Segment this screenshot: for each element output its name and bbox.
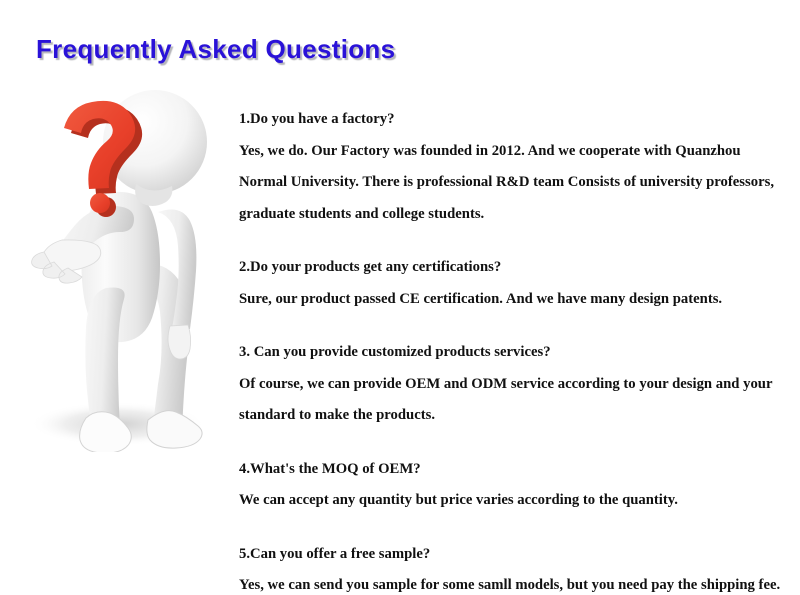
- faq-question: 3. Can you provide customized products s…: [239, 337, 785, 369]
- faq-answer: Of course, we can provide OEM and ODM se…: [239, 369, 785, 432]
- faq-question: 4.What's the MOQ of OEM?: [239, 454, 785, 486]
- faq-question: 2.Do your products get any certification…: [239, 252, 785, 284]
- faq-question: 1.Do you have a factory?: [239, 104, 785, 136]
- faq-item: 5.Can you offer a free sample? Yes, we c…: [239, 539, 785, 595]
- 3d-mannequin-with-question-mark-illustration: [18, 72, 228, 452]
- page-title: Frequently Asked Questions: [36, 34, 395, 65]
- faq-answer: Yes, we do. Our Factory was founded in 2…: [239, 136, 785, 231]
- figure-right-hand: [168, 325, 191, 359]
- question-mark-dot: [90, 193, 110, 213]
- faq-answer: Sure, our product passed CE certificatio…: [239, 284, 785, 316]
- figure-left-leg: [85, 287, 124, 430]
- faq-answer: Yes, we can send you sample for some sam…: [239, 570, 785, 595]
- faq-question: 5.Can you offer a free sample?: [239, 539, 785, 571]
- faq-answer: We can accept any quantity but price var…: [239, 485, 785, 517]
- faq-item: 3. Can you provide customized products s…: [239, 337, 785, 432]
- faq-item: 1.Do you have a factory? Yes, we do. Our…: [239, 104, 785, 230]
- faq-item: 2.Do your products get any certification…: [239, 252, 785, 315]
- faq-item: 4.What's the MOQ of OEM? We can accept a…: [239, 454, 785, 517]
- faq-list: 1.Do you have a factory? Yes, we do. Our…: [239, 104, 785, 595]
- faq-page: Frequently Asked Questions: [0, 0, 800, 595]
